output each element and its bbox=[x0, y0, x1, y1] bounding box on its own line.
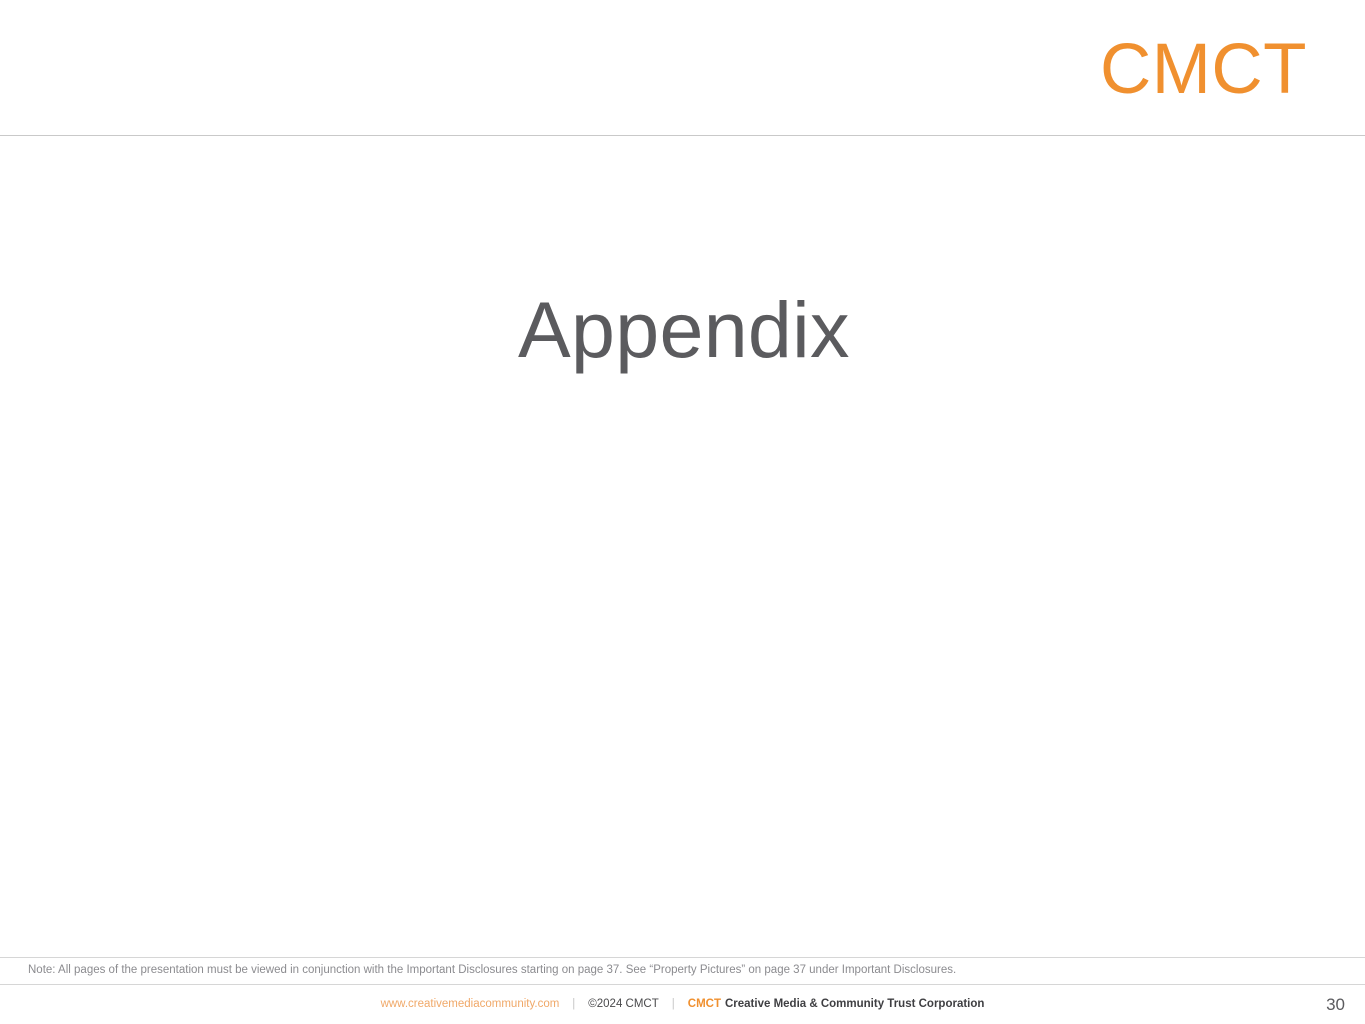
footer-copyright: ©2024 CMCT bbox=[588, 999, 658, 1011]
disclosure-note-text: Note: All pages of the presentation must… bbox=[0, 964, 956, 978]
page-title: Appendix bbox=[518, 286, 850, 374]
slide-footer: www.creativemediacommunity.com | ©2024 C… bbox=[0, 985, 1365, 1024]
cmct-logo: CMCT bbox=[1100, 34, 1307, 105]
slide-body: Appendix bbox=[0, 136, 1365, 956]
footer-entity-name: Creative Media & Community Trust Corpora… bbox=[725, 999, 984, 1011]
footer-separator-2: | bbox=[659, 999, 688, 1011]
footer-separator-1: | bbox=[559, 999, 588, 1011]
footer-website-link[interactable]: www.creativemediacommunity.com bbox=[381, 999, 560, 1011]
slide-header: CMCT bbox=[0, 0, 1365, 136]
page-number: 30 bbox=[1326, 985, 1345, 1024]
footer-cmct-mark: CMCT bbox=[688, 999, 725, 1011]
disclosure-note-band: Note: All pages of the presentation must… bbox=[0, 957, 1365, 985]
footer-credits: www.creativemediacommunity.com | ©2024 C… bbox=[0, 985, 1365, 1024]
presentation-slide: CMCT Appendix Note: All pages of the pre… bbox=[0, 0, 1365, 1024]
